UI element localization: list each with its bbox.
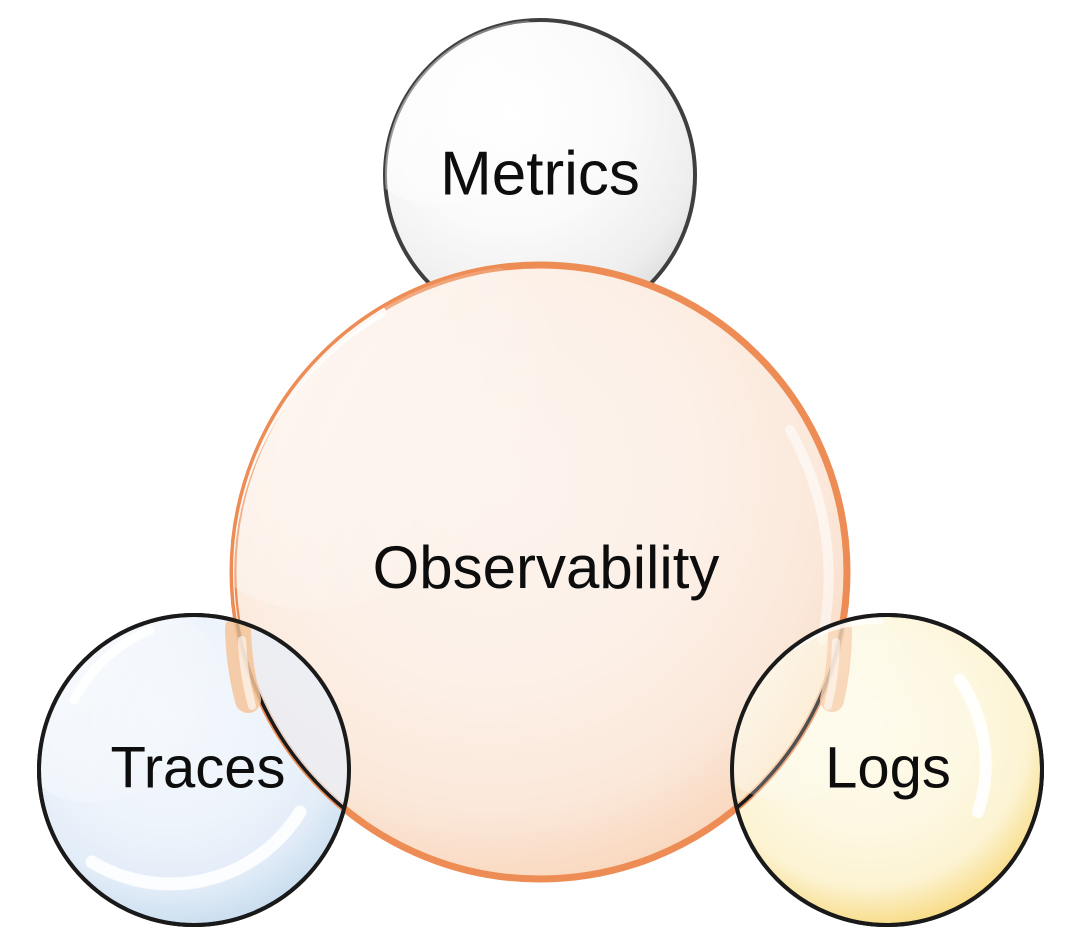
observability-label: Observability <box>373 534 720 601</box>
observability-diagram: Metrics Observability Traces Logs <box>0 0 1082 942</box>
logs-label: Logs <box>825 735 951 800</box>
diagram-canvas: Metrics Observability Traces Logs <box>0 0 1082 942</box>
metrics-label: Metrics <box>440 139 640 208</box>
traces-label: Traces <box>110 735 285 800</box>
